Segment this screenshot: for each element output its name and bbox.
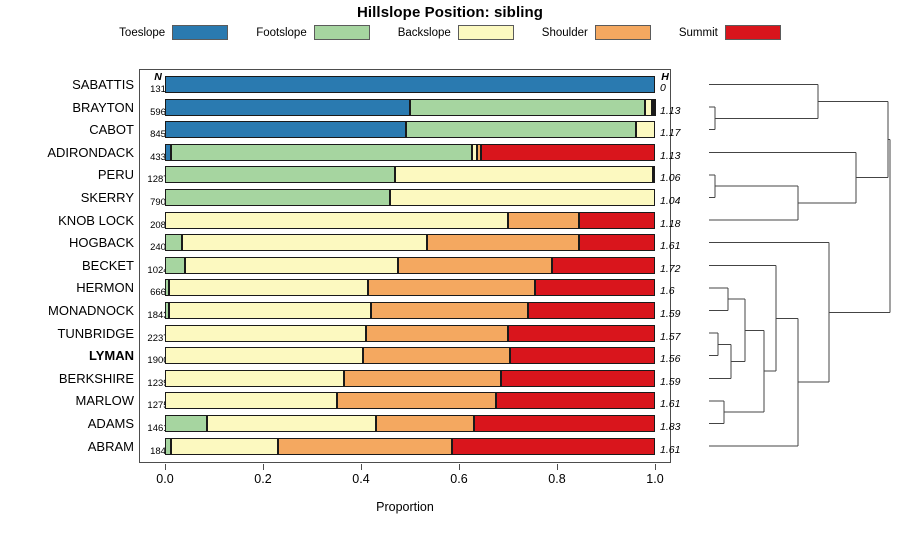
legend-swatch-footslope (314, 25, 370, 40)
table-row[interactable] (165, 370, 655, 387)
bar-segment-summit[interactable] (496, 392, 655, 409)
legend-item-shoulder: Shoulder (542, 25, 651, 40)
legend-label: Summit (679, 27, 718, 39)
legend: ToeslopeFootslopeBackslopeShoulderSummit (0, 25, 900, 40)
row-label-skerry: SKERRY (0, 190, 134, 205)
bar-segment-shoulder[interactable] (398, 257, 552, 274)
bar-segment-backslope[interactable] (636, 121, 655, 138)
bar-segment-footslope[interactable] (165, 166, 395, 183)
legend-item-backslope: Backslope (398, 25, 514, 40)
bar-segment-summit[interactable] (501, 370, 655, 387)
bar-segment-toeslope[interactable] (165, 121, 406, 138)
bar-segment-toeslope[interactable] (165, 99, 410, 116)
legend-swatch-toeslope (172, 25, 228, 40)
bar-segment-shoulder[interactable] (278, 438, 452, 455)
x-tick-label: 0.2 (243, 472, 283, 486)
table-row[interactable] (165, 392, 655, 409)
legend-item-summit: Summit (679, 25, 781, 40)
bar-segment-shoulder[interactable] (337, 392, 496, 409)
bar-segment-toeslope[interactable] (165, 76, 655, 93)
x-tick (361, 464, 362, 470)
row-label-hermon: HERMON (0, 280, 134, 295)
bar-segment-summit[interactable] (579, 234, 655, 251)
chart-title: Hillslope Position: sibling (0, 4, 900, 21)
bar-segment-shoulder[interactable] (376, 415, 474, 432)
table-row[interactable] (165, 121, 655, 138)
chart-root: Hillslope Position: sibling ToeslopeFoot… (0, 0, 900, 540)
bar-segment-footslope[interactable] (410, 99, 645, 116)
row-label-abram: ABRAM (0, 439, 134, 454)
legend-item-footslope: Footslope (256, 25, 370, 40)
bar-segment-backslope[interactable] (165, 370, 344, 387)
bar-segment-shoulder[interactable] (366, 325, 508, 342)
bar-segment-summit[interactable] (481, 144, 655, 161)
bar-segment-shoulder[interactable] (368, 279, 535, 296)
legend-label: Shoulder (542, 27, 588, 39)
row-label-adirondack: ADIRONDACK (0, 145, 134, 160)
row-label-becket: BECKET (0, 258, 134, 273)
bar-segment-backslope[interactable] (185, 257, 398, 274)
row-label-tunbridge: TUNBRIDGE (0, 326, 134, 341)
table-row[interactable] (165, 302, 655, 319)
bar-segment-shoulder[interactable] (508, 212, 579, 229)
bar-segment-footslope[interactable] (406, 121, 636, 138)
bar-segment-shoulder[interactable] (344, 370, 501, 387)
bar-segment-summit[interactable] (653, 166, 655, 183)
row-label-lyman: LYMAN (0, 348, 134, 363)
x-tick-label: 1.0 (635, 472, 675, 486)
table-row[interactable] (165, 76, 655, 93)
legend-item-toeslope: Toeslope (119, 25, 228, 40)
bar-segment-footslope[interactable] (165, 234, 182, 251)
bar-segment-footslope[interactable] (171, 144, 472, 161)
dendrogram (676, 69, 894, 463)
row-label-monadnock: MONADNOCK (0, 303, 134, 318)
bar-segment-summit[interactable] (579, 212, 655, 229)
bar-segment-summit[interactable] (552, 257, 655, 274)
row-label-berkshire: BERKSHIRE (0, 371, 134, 386)
legend-label: Backslope (398, 27, 451, 39)
bar-segment-footslope[interactable] (165, 189, 390, 206)
table-row[interactable] (165, 166, 655, 183)
table-row[interactable] (165, 189, 655, 206)
x-tick-label: 0.4 (341, 472, 381, 486)
bar-segment-backslope[interactable] (169, 302, 371, 319)
bar-segment-backslope[interactable] (165, 325, 366, 342)
bar-segment-summit[interactable] (508, 325, 655, 342)
row-label-marlow: MARLOW (0, 393, 134, 408)
legend-label: Toeslope (119, 27, 165, 39)
bar-segment-summit[interactable] (528, 302, 655, 319)
x-tick-label: 0.0 (145, 472, 185, 486)
table-row[interactable] (165, 415, 655, 432)
bar-segment-backslope[interactable] (390, 189, 655, 206)
bar-segment-backslope[interactable] (171, 438, 278, 455)
table-row[interactable] (165, 234, 655, 251)
row-label-peru: PERU (0, 167, 134, 182)
bar-segment-footslope[interactable] (165, 257, 185, 274)
x-tick (655, 464, 656, 470)
table-row[interactable] (165, 212, 655, 229)
table-row[interactable] (165, 279, 655, 296)
bar-segment-backslope[interactable] (645, 99, 652, 116)
row-label-cabot: CABOT (0, 122, 134, 137)
bar-segment-backslope[interactable] (169, 279, 368, 296)
row-label-brayton: BRAYTON (0, 100, 134, 115)
row-label-hogback: HOGBACK (0, 235, 134, 250)
bar-segment-backslope[interactable] (165, 392, 337, 409)
x-tick (459, 464, 460, 470)
x-tick-label: 0.8 (537, 472, 577, 486)
bar-segment-footslope[interactable] (165, 415, 207, 432)
x-tick (263, 464, 264, 470)
bar-segment-summit[interactable] (510, 347, 655, 364)
table-row[interactable] (165, 144, 655, 161)
bar-segment-summit[interactable] (654, 99, 656, 116)
row-label-sabattis: SABATTIS (0, 77, 134, 92)
x-axis-title: Proportion (0, 500, 810, 514)
bar-segment-backslope[interactable] (182, 234, 427, 251)
x-tick (557, 464, 558, 470)
table-row[interactable] (165, 99, 655, 116)
bar-segment-backslope[interactable] (165, 347, 363, 364)
table-row[interactable] (165, 257, 655, 274)
bar-segment-shoulder[interactable] (371, 302, 528, 319)
legend-swatch-backslope (458, 25, 514, 40)
table-row[interactable] (165, 347, 655, 364)
x-tick-label: 0.6 (439, 472, 479, 486)
table-row[interactable] (165, 438, 655, 455)
bar-segment-summit[interactable] (452, 438, 655, 455)
legend-swatch-summit (725, 25, 781, 40)
legend-label: Footslope (256, 27, 307, 39)
row-label-adams: ADAMS (0, 416, 134, 431)
row-label-knob-lock: KNOB LOCK (0, 213, 134, 228)
bar-segment-shoulder[interactable] (427, 234, 579, 251)
bar-segment-backslope[interactable] (207, 415, 376, 432)
bar-segment-shoulder[interactable] (363, 347, 510, 364)
bar-segment-backslope[interactable] (165, 212, 508, 229)
bar-segment-backslope[interactable] (395, 166, 652, 183)
x-tick (165, 464, 166, 470)
bar-segment-summit[interactable] (535, 279, 655, 296)
bar-segment-summit[interactable] (474, 415, 655, 432)
table-row[interactable] (165, 325, 655, 342)
legend-swatch-shoulder (595, 25, 651, 40)
